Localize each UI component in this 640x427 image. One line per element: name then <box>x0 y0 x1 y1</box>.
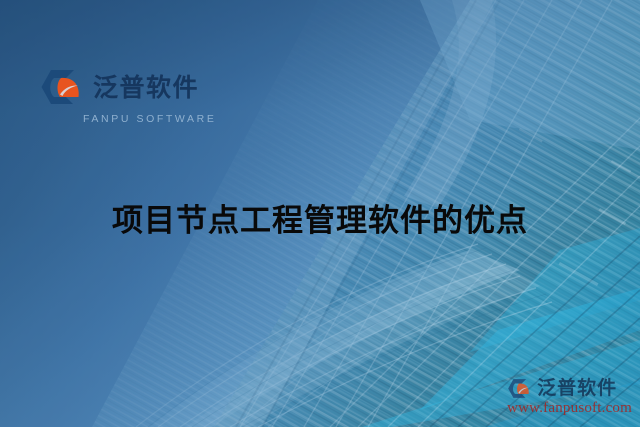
brand-name-cn: 泛普软件 <box>93 75 199 100</box>
promo-banner: 泛普软件 FANPU SOFTWARE 项目节点工程管理软件的优点 泛普软件 w… <box>0 0 640 427</box>
watermark-url: www.fanpusoft.com <box>507 400 632 417</box>
watermark-brand-name: 泛普软件 <box>537 379 617 398</box>
brand-logo-row: 泛普软件 <box>40 68 199 106</box>
fanpu-logo-mark <box>40 68 84 106</box>
watermark-logo-mark <box>507 378 532 399</box>
brand-name-en: FANPU SOFTWARE <box>83 113 216 125</box>
watermark-brand-row: 泛普软件 <box>507 378 617 399</box>
brand-logo[interactable]: 泛普软件 FANPU SOFTWARE <box>40 68 216 125</box>
watermark: 泛普软件 www.fanpusoft.com <box>507 378 632 417</box>
banner-headline: 项目节点工程管理软件的优点 <box>0 204 640 240</box>
